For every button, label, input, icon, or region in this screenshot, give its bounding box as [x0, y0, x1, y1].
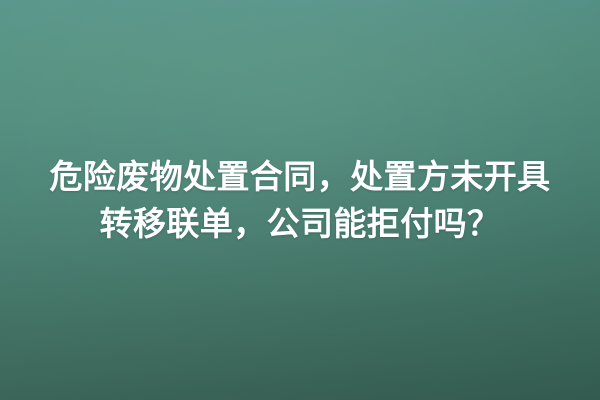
- headline-text: 危险废物处置合同，处置方未开具 转移联单，公司能拒付吗？: [30, 153, 570, 247]
- title-card: 危险废物处置合同，处置方未开具 转移联单，公司能拒付吗？: [0, 0, 600, 400]
- headline-container: 危险废物处置合同，处置方未开具 转移联单，公司能拒付吗？: [30, 153, 570, 247]
